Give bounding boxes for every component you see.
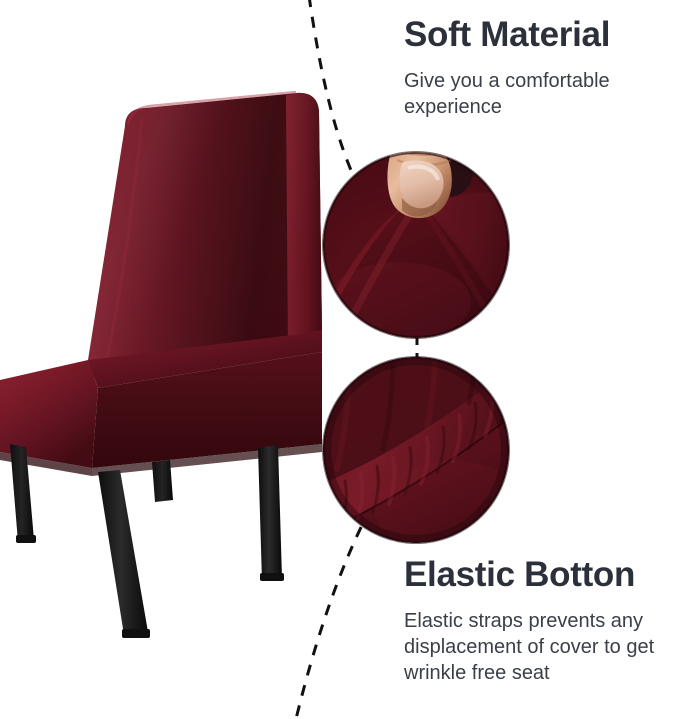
feature-text-elastic-botton: Elastic Botton Elastic straps prevents a… (404, 556, 672, 686)
chair-leg-middle (152, 460, 173, 502)
chair-foot-front-left (122, 629, 150, 638)
detail-photo-elastic-hem (323, 357, 509, 543)
product-photo-chair (0, 0, 330, 719)
chair-foot-rear-right (260, 573, 284, 581)
detail-photo-soft-material (323, 152, 509, 338)
feature-title-soft-material: Soft Material (404, 16, 672, 54)
feature-description-elastic-botton: Elastic straps prevents any displacement… (404, 608, 672, 686)
feature-title-elastic-botton: Elastic Botton (404, 556, 672, 594)
product-infographic: Soft Material Give you a comfortable exp… (0, 0, 679, 719)
chair-foot-rear-left (16, 535, 36, 543)
feature-text-soft-material: Soft Material Give you a comfortable exp… (404, 16, 672, 120)
feature-description-soft-material: Give you a comfortable experience (404, 68, 672, 120)
chair-leg-rear-right (258, 445, 282, 581)
chair-leg-front-left (98, 470, 148, 635)
